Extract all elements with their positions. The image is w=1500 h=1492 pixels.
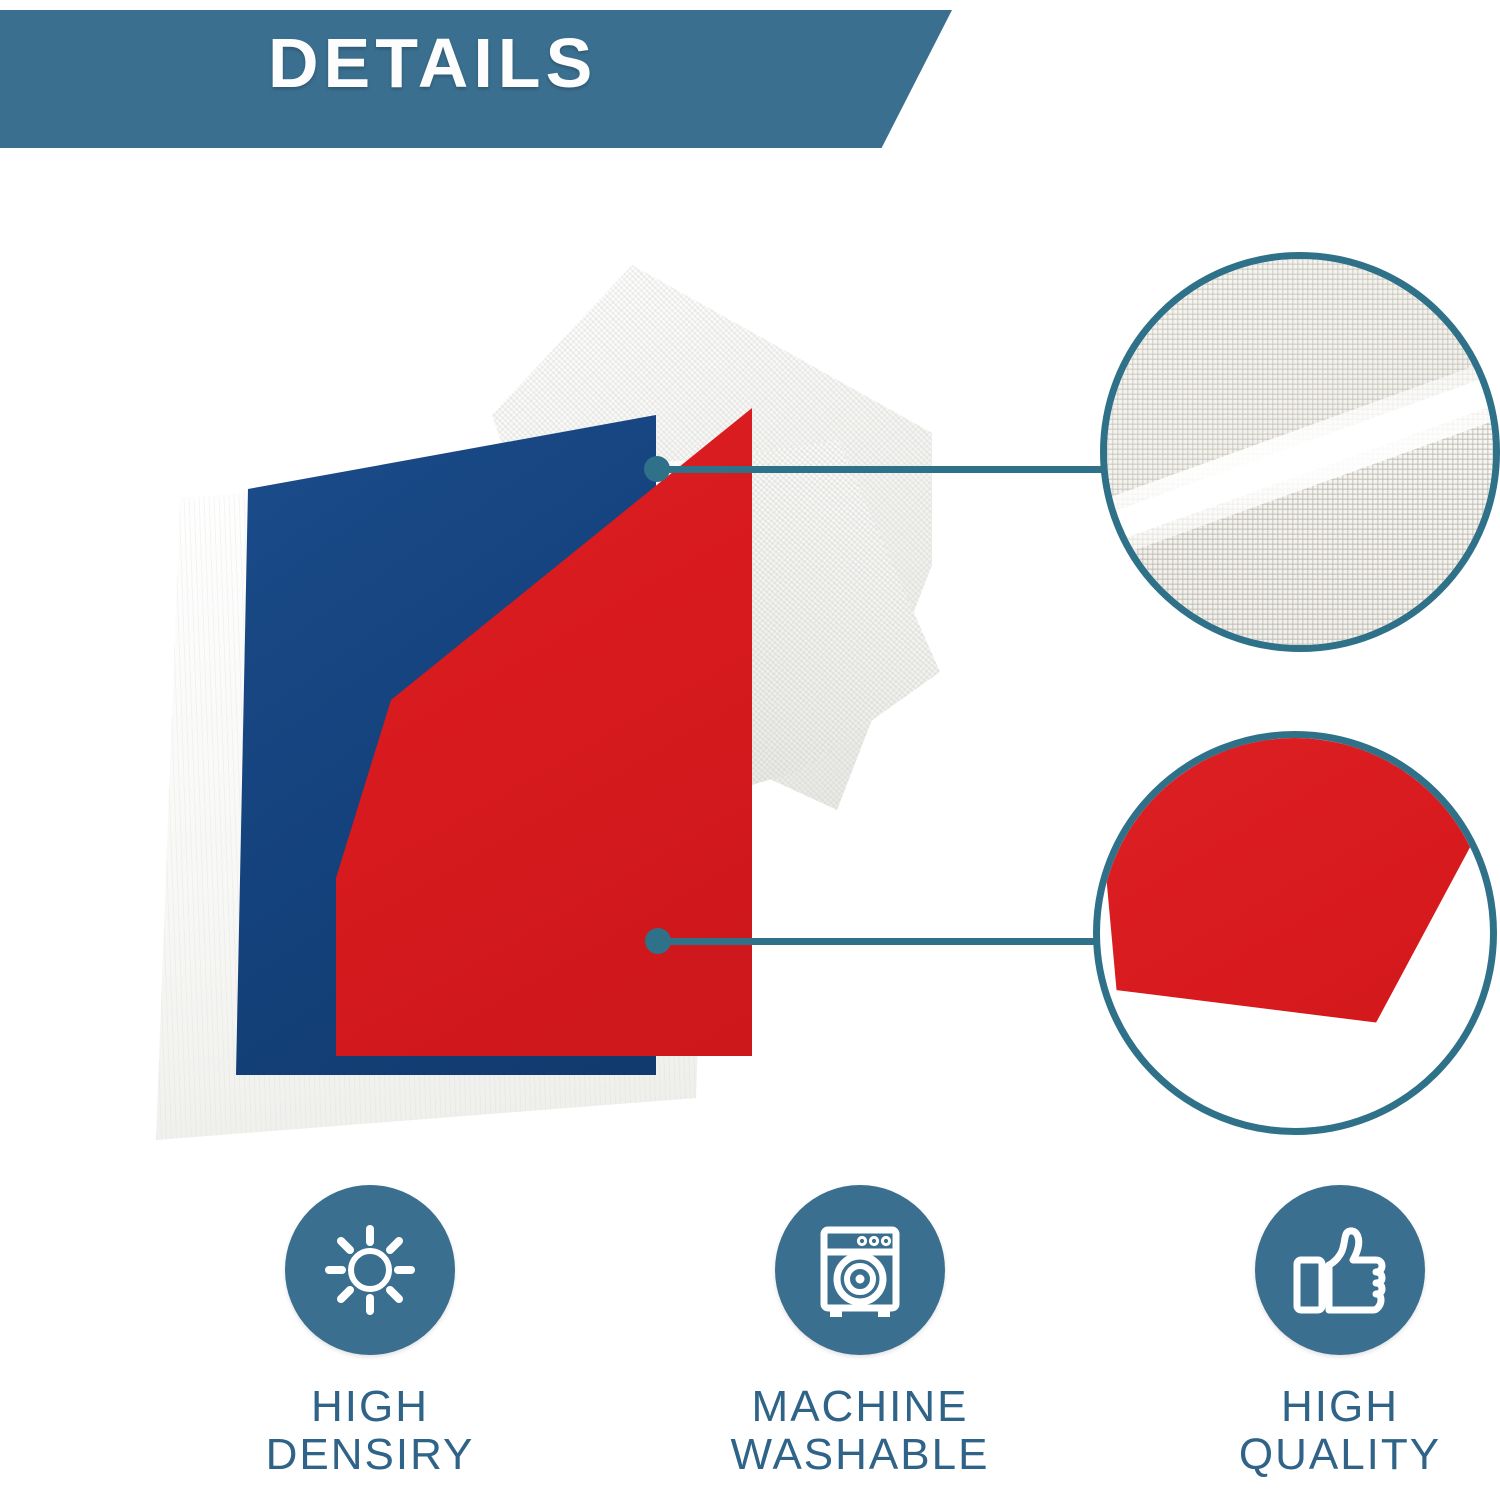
feature-label: HIGH QUALITY <box>1140 1383 1500 1478</box>
callout-anchor-dot-fabric <box>645 928 671 954</box>
feature-badge-circle <box>775 1185 945 1355</box>
red-fabric-corner-swatch <box>1093 731 1497 1128</box>
washing-machine-icon <box>808 1218 912 1322</box>
callout-anchor-dot-weave <box>644 456 670 482</box>
feature-badges-row: HIGH DENSIRY MACHINE WASHABLE <box>0 1185 1500 1492</box>
feature-badge-circle <box>285 1185 455 1355</box>
feature-badge-circle <box>1255 1185 1425 1355</box>
zoom-circle-weave-detail <box>1100 252 1500 652</box>
feature-label: MACHINE WASHABLE <box>660 1383 1060 1478</box>
feature-machine-washable: MACHINE WASHABLE <box>660 1185 1060 1478</box>
sun-icon <box>319 1219 421 1321</box>
feature-high-quality: HIGH QUALITY <box>1140 1185 1500 1478</box>
product-photo <box>140 250 1100 1180</box>
thumbs-up-icon <box>1288 1218 1392 1322</box>
feature-high-density: HIGH DENSIRY <box>170 1185 570 1478</box>
page-title: DETAILS <box>268 28 597 98</box>
feature-label: HIGH DENSIRY <box>170 1383 570 1478</box>
zoom-circle-fabric-detail <box>1093 731 1497 1135</box>
callout-connector-line-weave <box>660 466 1105 473</box>
callout-connector-line-fabric <box>662 938 1100 945</box>
